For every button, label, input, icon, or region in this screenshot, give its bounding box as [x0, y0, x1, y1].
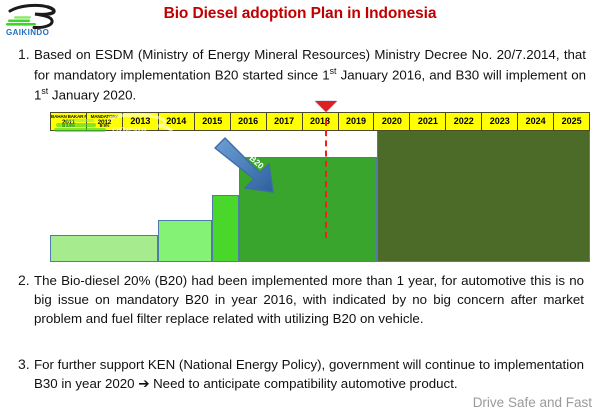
timeline-cell-2012[interactable]: MANDATORY 2012 B 5%: [87, 113, 123, 130]
start-b20-arrow-icon: [213, 136, 285, 198]
timeline-cell-2013[interactable]: 2013: [123, 113, 159, 130]
chart-bar-step-5: [377, 118, 590, 262]
timeline-cell-2022[interactable]: 2022: [446, 113, 482, 130]
timeline-cell-2015[interactable]: 2015: [195, 113, 231, 130]
timeline-cell-2018[interactable]: 2018: [303, 113, 339, 130]
list-item-2-text: The Bio-diesel 20% (B20) had been implem…: [34, 272, 584, 329]
list-item-1-text-part3: January 2020.: [48, 88, 136, 103]
list-item-1: 1. Based on ESDM (Ministry of Energy Min…: [0, 46, 586, 105]
timeline-cell-2014[interactable]: 2014: [159, 113, 195, 130]
timeline-cell-2020[interactable]: 2020: [374, 113, 410, 130]
timeline-cell-2016[interactable]: 2016: [231, 113, 267, 130]
list-item-3-number: 3.: [0, 356, 34, 372]
list-item-2-number: 2.: [0, 272, 34, 288]
chart-bar-step-1: [50, 235, 158, 262]
timeline-cell-2011[interactable]: BAHAN BAKAR NABATI 2011 B 2.5%: [51, 113, 87, 130]
timeline-cell-2019[interactable]: 2019: [339, 113, 375, 130]
timeline-cell-2021[interactable]: 2021: [410, 113, 446, 130]
footer-tagline: Drive Safe and Fast: [473, 395, 592, 410]
page-title: Bio Diesel adoption Plan in Indonesia: [0, 5, 600, 23]
list-item-1-text: Based on ESDM (Ministry of Energy Minera…: [34, 46, 586, 105]
list-item-1-number: 1.: [0, 46, 34, 62]
chart-bar-step-3: [212, 195, 239, 262]
chart-bar-step-2: [158, 220, 212, 262]
timeline-cell-2011-overlap-2: B 2.5%: [51, 124, 86, 128]
timeline-cell-2024[interactable]: 2024: [518, 113, 554, 130]
timeline-cell-2017[interactable]: 2017: [267, 113, 303, 130]
list-item-2: 2. The Bio-diesel 20% (B20) had been imp…: [0, 272, 584, 329]
year-timeline: BAHAN BAKAR NABATI 2011 B 2.5% MANDATORY…: [50, 112, 590, 131]
logo-wordmark: GAIKINDO: [6, 28, 49, 37]
bio-diesel-adoption-chart: BAHAN BAKAR NABATI 2011 B 2.5% MANDATORY…: [50, 112, 590, 262]
list-item-3-text: For further support KEN (National Energy…: [34, 356, 584, 394]
ordinal-suffix-1: st: [330, 66, 337, 76]
timeline-cell-2025[interactable]: 2025: [554, 113, 589, 130]
timeline-cell-2012-overlap-2: B 5%: [87, 124, 122, 128]
timeline-cell-2023[interactable]: 2023: [482, 113, 518, 130]
current-year-marker-line: [325, 120, 327, 238]
current-year-marker-triangle-icon: [315, 101, 337, 112]
list-item-3: 3. For further support KEN (National Ene…: [0, 356, 584, 394]
